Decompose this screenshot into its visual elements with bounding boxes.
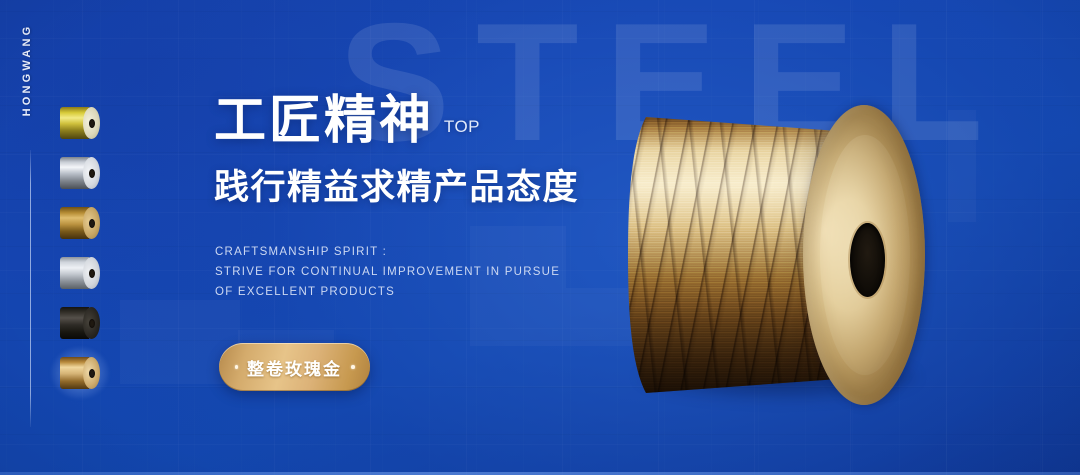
cta-button-label: 整卷玫瑰金 <box>247 355 342 380</box>
coil-thumb-icon <box>60 157 100 189</box>
thumbnail-item-gold-mirror[interactable] <box>52 98 108 147</box>
hero-steel-coil-image <box>628 105 933 405</box>
coil-center-hole <box>850 223 885 297</box>
coil-thumb-hole <box>89 269 95 278</box>
english-tagline-block: CRAFTSMANSHIP SPIRIT : STRIVE FOR CONTIN… <box>215 242 560 303</box>
background-geo-block-5 <box>948 110 976 222</box>
headline-group: 工匠精神 TOP <box>214 92 434 150</box>
english-tagline-line-3: OF EXCELLENT PRODUCTS <box>215 282 560 302</box>
thumbnail-item-rose-gold[interactable] <box>52 348 108 397</box>
coil-thumb-icon <box>60 107 100 139</box>
headline-superscript: TOP <box>444 98 480 156</box>
coil-thumb-hole <box>89 169 95 178</box>
product-thumbnail-list <box>52 98 108 398</box>
promo-banner: STEEL HONGWANG <box>0 0 1080 475</box>
thumbnail-item-brushed-steel[interactable] <box>52 248 108 297</box>
coil-thumb-hole <box>89 219 95 228</box>
coil-thumb-hole <box>89 369 95 378</box>
thumbnail-item-bronze-brushed[interactable] <box>52 198 108 247</box>
headline-main-text: 工匠精神 <box>214 92 434 150</box>
coil-thumb-icon <box>60 257 100 289</box>
cta-button[interactable]: 整卷玫瑰金 <box>219 343 370 391</box>
coil-thumb-icon <box>60 357 100 389</box>
english-tagline-line-1: CRAFTSMANSHIP SPIRIT : <box>215 242 560 262</box>
english-tagline-line-2: STRIVE FOR CONTINUAL IMPROVEMENT IN PURS… <box>215 262 560 282</box>
left-rail: HONGWANG <box>0 0 112 475</box>
thumbnail-item-silver-mirror[interactable] <box>52 148 108 197</box>
coil-thumb-icon <box>60 207 100 239</box>
cta-dot-right-icon <box>351 365 355 369</box>
coil-thumb-hole <box>89 319 95 328</box>
brand-name-vertical: HONGWANG <box>21 5 33 135</box>
rail-divider-line <box>30 150 31 427</box>
headline-main: 工匠精神 TOP <box>214 92 434 150</box>
headline-sub: 践行精益求精产品态度 <box>214 167 579 209</box>
coil-thumb-icon <box>60 307 100 339</box>
coil-thumb-hole <box>89 119 95 128</box>
thumbnail-item-black-titanium[interactable] <box>52 298 108 347</box>
cta-dot-left-icon <box>235 365 239 369</box>
